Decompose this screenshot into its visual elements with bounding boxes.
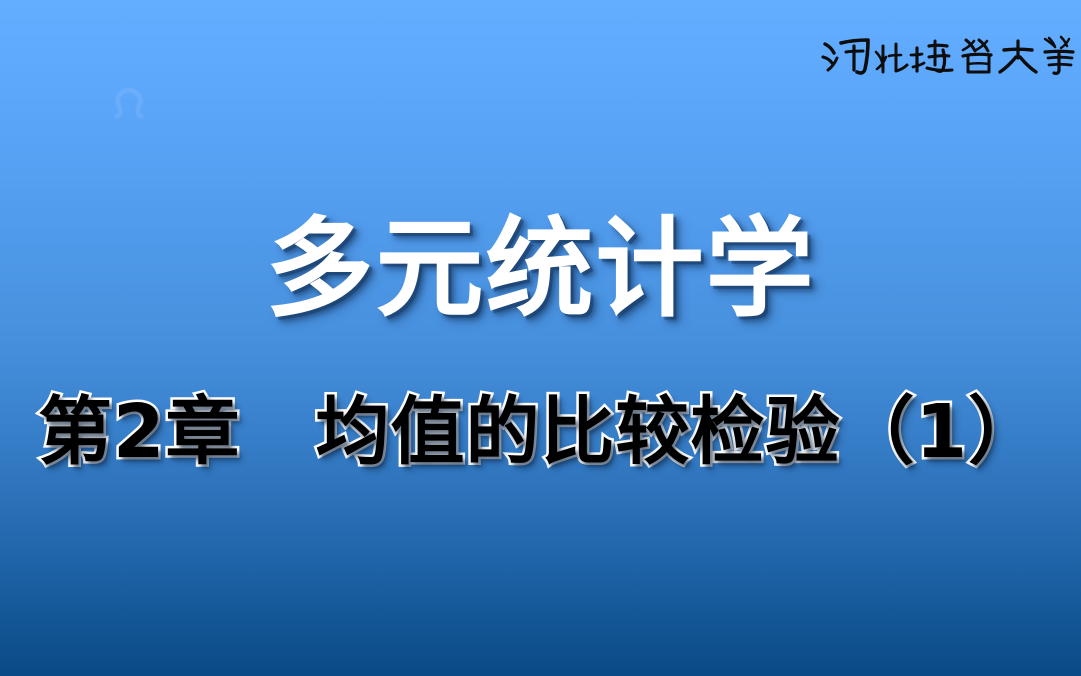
slide-subtitle: 第2章 均值的比较检验（1） [38, 388, 1043, 477]
presentation-title-slide: ᙁ [0, 0, 1081, 676]
university-logo-calligraphy-icon [821, 24, 1079, 84]
university-logo [821, 24, 1079, 84]
slide-main-title: 多元统计学 [0, 212, 1081, 329]
faint-watermark: ᙁ [104, 82, 152, 128]
slide-subtitle-container: 第2章 均值的比较检验（1） [0, 388, 1081, 488]
